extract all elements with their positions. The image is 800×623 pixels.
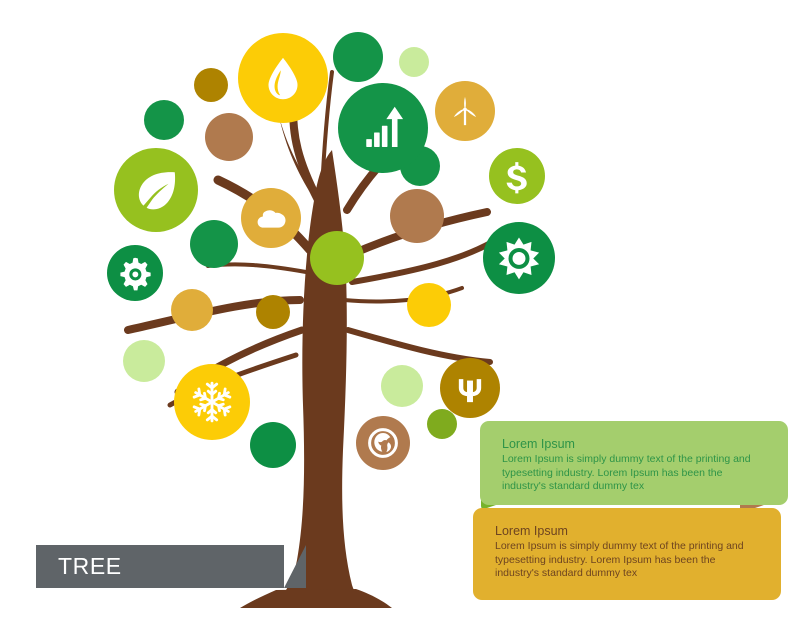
cloud-icon-circle[interactable] [241,188,301,248]
gear-icon-circle[interactable] [107,245,163,301]
cactus-icon-circle[interactable] [440,358,500,418]
dollar-sign-icon-circle[interactable] [489,148,545,204]
infographic-canvas: TREE INFOGRAPHIC Lorem Ipsum Lorem Ipsum… [0,0,800,623]
callout-green[interactable]: Lorem Ipsum Lorem Ipsum is simply dummy … [480,421,788,505]
callout-green-title: Lorem Ipsum [502,437,766,451]
callout-green-body: Lorem Ipsum is simply dummy text of the … [502,453,766,494]
globe-icon-background [356,416,410,470]
callout-yellow[interactable]: Lorem Ipsum Lorem Ipsum is simply dummy … [473,508,781,600]
wind-turbine-icon-circle[interactable] [435,81,495,141]
callout-yellow-body: Lorem Ipsum is simply dummy text of the … [495,540,759,581]
callout-yellow-title: Lorem Ipsum [495,524,759,538]
water-drop-icon-circle[interactable] [238,33,328,123]
page-title: TREE INFOGRAPHIC [36,545,284,588]
globe-icon-circle[interactable] [356,416,410,470]
leaf-icon-circle[interactable] [114,148,198,232]
sun-icon-circle[interactable] [483,222,555,294]
growth-chart-icon-circle[interactable] [338,83,428,173]
snowflake-icon-circle[interactable] [174,364,250,440]
